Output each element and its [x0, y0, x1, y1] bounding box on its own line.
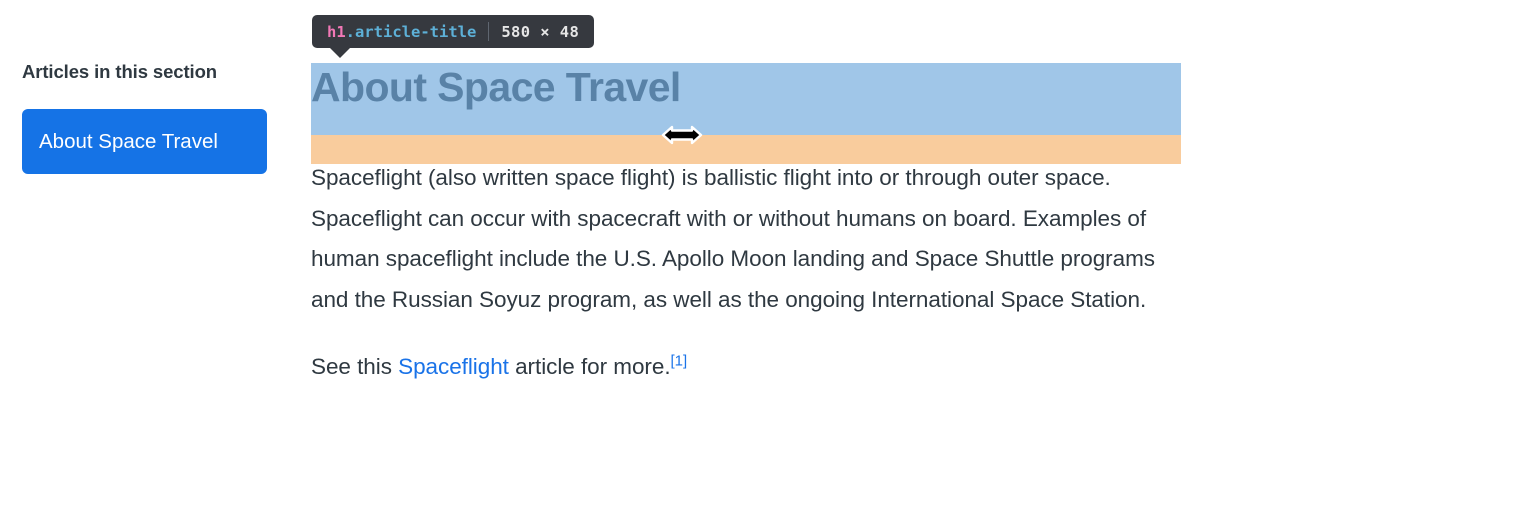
inspector-tooltip: h1.article-title 580 × 48 — [312, 15, 594, 48]
article-paragraph-1: Spaceflight (also written space flight) … — [311, 158, 1183, 320]
sidebar-article-list: About Space Travel — [22, 109, 272, 174]
list-item: About Space Travel — [22, 109, 272, 174]
paragraph-2-suffix: article for more. — [509, 354, 671, 379]
page-title: About Space Travel — [311, 63, 891, 111]
inspector-divider — [488, 22, 489, 41]
page-root: Articles in this section About Space Tra… — [0, 0, 1538, 528]
inspector-tooltip-arrow — [329, 47, 351, 58]
inspector-dimensions: 580 × 48 — [501, 23, 579, 41]
inspector-class-selector: .article-title — [346, 23, 477, 41]
sidebar: Articles in this section About Space Tra… — [22, 60, 272, 174]
inspector-tag-name: h1 — [327, 23, 346, 41]
article-paragraph-2: See this Spaceflight article for more.[1… — [311, 347, 1183, 388]
paragraph-2-prefix: See this — [311, 354, 398, 379]
footnote-reference-link[interactable]: [1] — [671, 353, 688, 370]
sidebar-item-about-space-travel[interactable]: About Space Travel — [22, 109, 267, 174]
spaceflight-link[interactable]: Spaceflight — [398, 354, 509, 379]
article-container: About Space Travel Spaceflight (also wri… — [311, 63, 1191, 388]
sidebar-heading: Articles in this section — [22, 60, 272, 84]
